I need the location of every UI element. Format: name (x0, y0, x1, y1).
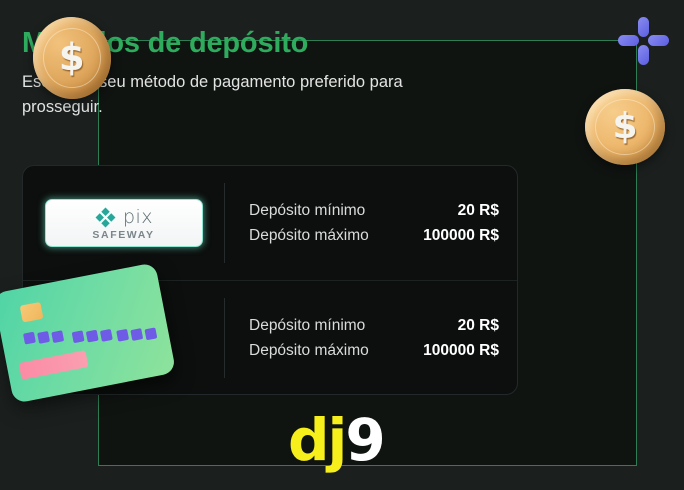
max-deposit-value: 100000 R$ (423, 338, 499, 363)
decorative-card-square (100, 329, 113, 342)
plus-bar-top (638, 17, 649, 37)
plus-icon (617, 15, 669, 67)
watermark-dj: dj (288, 406, 345, 474)
decorative-card-chip (20, 302, 44, 323)
pix-safeway-label: SAFEWAY (92, 230, 154, 241)
pix-logo-top: pix (94, 206, 153, 229)
decorative-card-square (116, 329, 129, 342)
min-deposit-line: Depósito mínimo 20 R$ (249, 313, 499, 338)
coin-inner-ring: $ (39, 24, 105, 92)
plus-bar-right (648, 35, 669, 46)
decorative-card-square (51, 330, 64, 343)
watermark-9: 9 (345, 406, 383, 474)
coin-dollar-symbol: $ (59, 36, 85, 79)
min-deposit-line: Depósito mínimo 20 R$ (249, 198, 499, 223)
method-info-cell-pix: Depósito mínimo 20 R$ Depósito máximo 10… (225, 198, 517, 248)
decorative-card-square (130, 328, 143, 341)
coin-dollar-symbol: $ (612, 106, 637, 147)
max-deposit-label: Depósito máximo (249, 338, 369, 363)
pix-logo-tile[interactable]: pix SAFEWAY (45, 199, 203, 247)
min-deposit-label: Depósito mínimo (249, 313, 365, 338)
method-logo-cell-pix: pix SAFEWAY (23, 166, 224, 280)
decorative-card-square (86, 330, 99, 343)
decorative-card-square (37, 331, 50, 344)
watermark: dj9 (288, 411, 384, 469)
min-deposit-value: 20 R$ (458, 198, 499, 223)
decorative-card-square (23, 332, 36, 345)
max-deposit-line: Depósito máximo 100000 R$ (249, 223, 499, 248)
plus-bar-bottom (638, 45, 649, 65)
min-deposit-value: 20 R$ (458, 313, 499, 338)
pix-wordmark: pix (123, 208, 153, 227)
pix-diamond-icon (94, 206, 117, 229)
max-deposit-label: Depósito máximo (249, 223, 369, 248)
plus-bar-left (618, 35, 639, 46)
min-deposit-label: Depósito mínimo (249, 198, 365, 223)
decorative-card-square (72, 330, 85, 343)
coin-inner-ring: $ (595, 99, 654, 155)
decorative-card-stripe (19, 350, 89, 380)
max-deposit-line: Depósito máximo 100000 R$ (249, 338, 499, 363)
max-deposit-value: 100000 R$ (423, 223, 499, 248)
decorative-card-square (144, 327, 157, 340)
payment-method-row-pix[interactable]: pix SAFEWAY Depósito mínimo 20 R$ Depósi… (23, 166, 517, 280)
gold-coin-icon: $ (585, 89, 665, 165)
method-info-cell-paybrokers: Depósito mínimo 20 R$ Depósito máximo 10… (225, 313, 517, 363)
